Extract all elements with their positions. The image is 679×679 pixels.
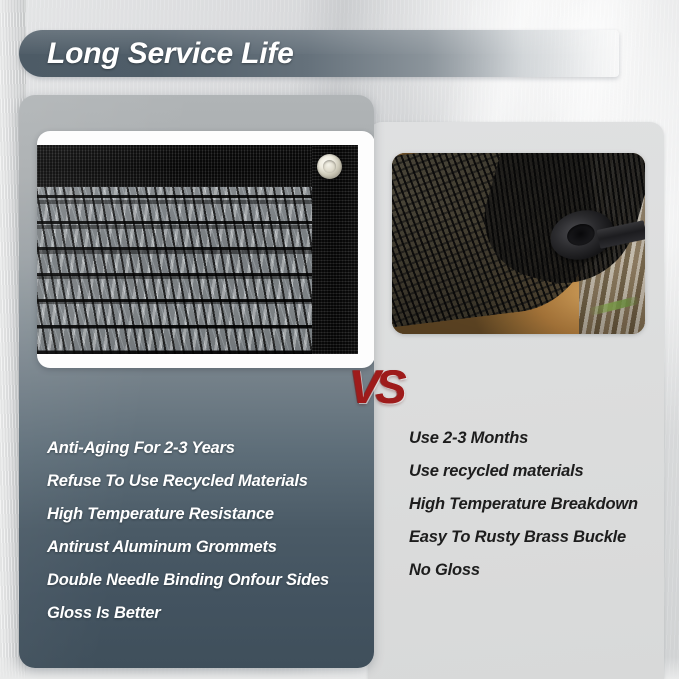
list-item: Easy To Rusty Brass Buckle — [409, 521, 679, 554]
comparison-panel-bad — [368, 122, 664, 679]
list-item: High Temperature Resistance — [47, 498, 347, 531]
bad-feature-list: Use 2-3 Months Use recycled materials Hi… — [409, 422, 679, 587]
page-title: Long Service Life — [47, 37, 294, 71]
product-comparison-infographic: Long Service Life VS Anti-Aging Fo — [0, 0, 679, 679]
title-banner: Long Service Life — [19, 30, 619, 77]
good-product-photo-frame — [37, 131, 374, 368]
bad-product-photo — [392, 153, 645, 334]
good-feature-list: Anti-Aging For 2-3 Years Refuse To Use R… — [47, 432, 347, 630]
list-item: Use 2-3 Months — [409, 422, 679, 455]
list-item: Use recycled materials — [409, 455, 679, 488]
list-item: Anti-Aging For 2-3 Years — [47, 432, 347, 465]
list-item: High Temperature Breakdown — [409, 488, 679, 521]
good-photo-knitted-mesh — [37, 187, 312, 354]
good-product-photo — [37, 145, 358, 354]
good-photo-top-binding — [37, 145, 358, 187]
list-item: No Gloss — [409, 554, 679, 587]
list-item: Gloss Is Better — [47, 597, 347, 630]
list-item: Refuse To Use Recycled Materials — [47, 465, 347, 498]
list-item: Double Needle Binding Onfour Sides — [47, 564, 347, 597]
list-item: Antirust Aluminum Grommets — [47, 531, 347, 564]
aluminum-grommet-icon — [317, 154, 342, 179]
versus-badge: VS — [349, 360, 411, 414]
